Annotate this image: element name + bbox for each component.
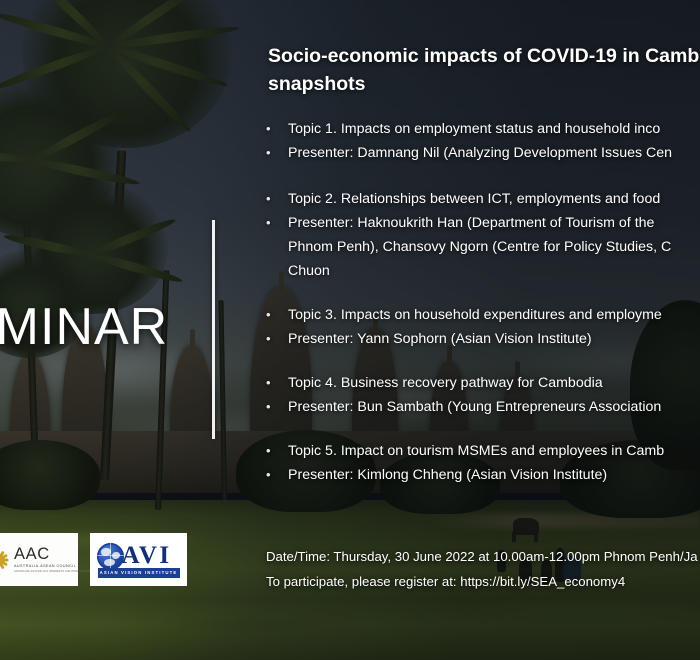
globe-icon	[97, 543, 124, 570]
presenter-text-cont: Chuon	[288, 260, 330, 282]
seminar-slide: EMINAR Socio-economic impacts of COVID-1…	[0, 0, 700, 660]
agenda-group: • Topic 1. Impacts on employment status …	[266, 118, 700, 164]
bullet-icon: •	[266, 212, 288, 234]
bullet-icon: •	[266, 188, 288, 210]
vertical-divider	[212, 220, 215, 439]
topic-text: Topic 3. Impacts on household expenditur…	[288, 304, 662, 326]
list-item: • Presenter: Haknoukrith Han (Department…	[266, 212, 700, 234]
seminar-heading: EMINAR	[0, 297, 168, 357]
agenda-group: • Topic 2. Relationships between ICT, em…	[266, 188, 700, 282]
page-title-line2: snapshots	[268, 70, 700, 98]
list-item: • Presenter: Bun Sambath (Young Entrepre…	[266, 396, 700, 418]
bullet-icon: •	[266, 396, 288, 418]
presenter-text: Presenter: Kimlong Chheng (Asian Vision …	[288, 464, 607, 486]
agenda-list: • Topic 1. Impacts on employment status …	[266, 118, 700, 508]
list-item: • Presenter: Yann Sophorn (Asian Vision …	[266, 328, 700, 350]
agenda-group: • Topic 4. Business recovery pathway for…	[266, 372, 700, 418]
presenter-text: Presenter: Bun Sambath (Young Entreprene…	[288, 396, 665, 418]
page-title-line1: Socio-economic impacts of COVID-19 in Ca…	[268, 45, 700, 67]
presenter-text: Presenter: Damnang Nil (Analyzing Develo…	[288, 142, 672, 164]
list-item: • Presenter: Kimlong Chheng (Asian Visio…	[266, 464, 700, 486]
bullet-icon: •	[266, 440, 288, 462]
bullet-icon: •	[266, 464, 288, 486]
topic-text: Topic 1. Impacts on employment status an…	[288, 118, 660, 140]
agenda-group: • Topic 5. Impact on tourism MSMEs and e…	[266, 440, 700, 486]
datetime-text: Date/Time: Thursday, 30 June 2022 at 10.…	[266, 544, 700, 569]
list-item-continuation: Phnom Penh), Chansovy Ngorn (Centre for …	[266, 236, 700, 258]
page-title: Socio-economic impacts of COVID-19 in Ca…	[268, 42, 700, 99]
bullet-icon: •	[266, 142, 288, 164]
topic-text: Topic 5. Impact on tourism MSMEs and emp…	[288, 440, 664, 462]
list-item-continuation: Chuon	[266, 260, 700, 282]
registration-link[interactable]: To participate, please register at: http…	[266, 569, 700, 594]
bullet-icon: •	[266, 328, 288, 350]
presenter-text-cont: Phnom Penh), Chansovy Ngorn (Centre for …	[288, 236, 671, 258]
aac-sunburst-icon	[0, 549, 10, 571]
footer-info: Date/Time: Thursday, 30 June 2022 at 10.…	[266, 544, 700, 594]
presenter-text: Presenter: Yann Sophorn (Asian Vision In…	[288, 328, 592, 350]
list-item: • Topic 2. Relationships between ICT, em…	[266, 188, 700, 210]
bullet-icon: •	[266, 372, 288, 394]
list-item: • Topic 5. Impact on tourism MSMEs and e…	[266, 440, 700, 462]
bullet-icon: •	[266, 304, 288, 326]
topic-text: Topic 2. Relationships between ICT, empl…	[288, 188, 660, 210]
list-item: • Topic 3. Impacts on household expendit…	[266, 304, 700, 326]
avi-logo: AVI ASIAN VISION INSTITUTE	[90, 533, 187, 586]
bullet-icon: •	[266, 118, 288, 140]
list-item: • Topic 1. Impacts on employment status …	[266, 118, 700, 140]
list-item: • Presenter: Damnang Nil (Analyzing Deve…	[266, 142, 700, 164]
topic-text: Topic 4. Business recovery pathway for C…	[288, 372, 603, 394]
avi-logo-name: AVI	[122, 542, 172, 570]
agenda-group: • Topic 3. Impacts on household expendit…	[266, 304, 700, 350]
avi-logo-band-text: ASIAN VISION INSTITUTE	[100, 570, 178, 575]
presenter-text: Presenter: Haknoukrith Han (Department o…	[288, 212, 654, 234]
aac-logo: AAC AUSTRALIA-ASEAN COUNCIL ADVANCING AU…	[0, 533, 78, 586]
list-item: • Topic 4. Business recovery pathway for…	[266, 372, 700, 394]
avi-logo-band: ASIAN VISION INSTITUTE	[98, 568, 180, 578]
